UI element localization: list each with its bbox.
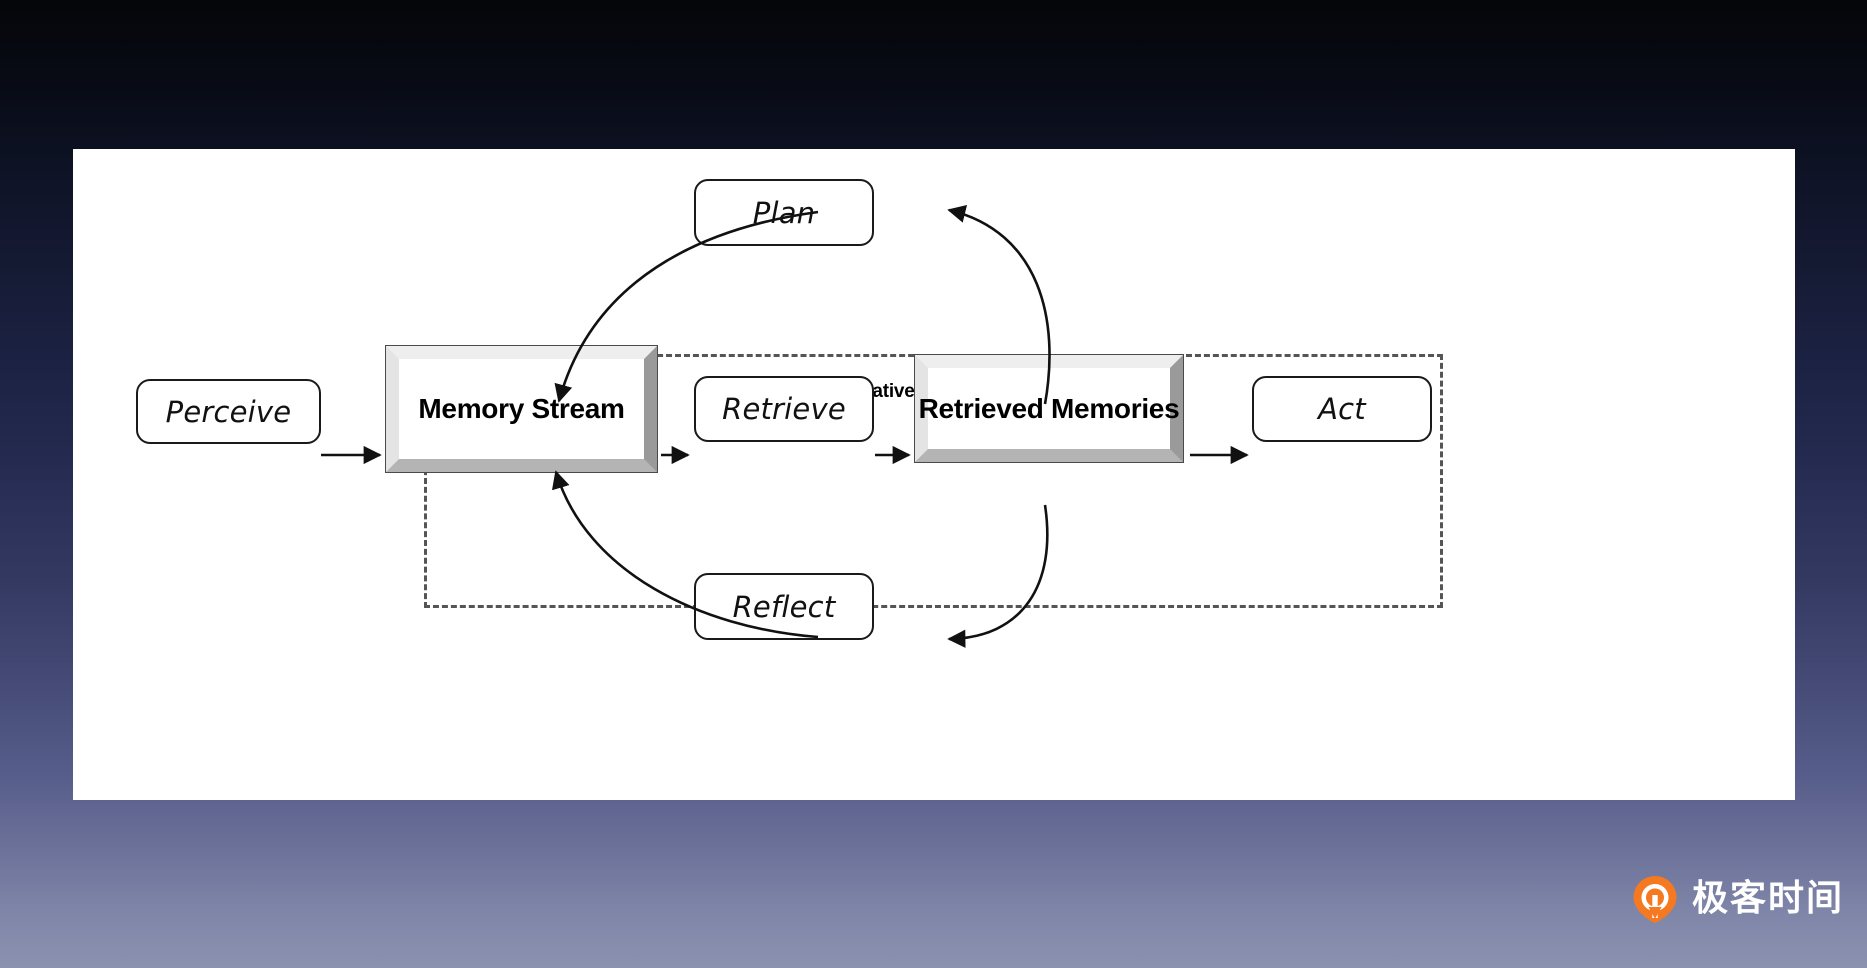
node-retrieve[interactable]: Retrieve	[694, 376, 874, 442]
node-perceive[interactable]: Perceive	[136, 379, 321, 444]
diagram-panel: Generative Agent Memory Perceive Memory …	[73, 149, 1795, 800]
node-act[interactable]: Act	[1252, 376, 1432, 442]
slide-canvas: Generative Agent Memory Perceive Memory …	[0, 0, 1867, 968]
watermark-text: 极客时间	[1692, 881, 1844, 917]
watermark: 极客时间	[1630, 874, 1844, 924]
node-memory-stream[interactable]: Memory Stream	[386, 346, 657, 472]
node-reflect[interactable]: Reflect	[694, 573, 874, 640]
geekbang-pin-logo	[1630, 874, 1680, 924]
node-reflect-label: Reflect	[733, 590, 836, 624]
node-act-label: Act	[1318, 392, 1366, 426]
node-retrieved-memories[interactable]: Retrieved Memories	[915, 355, 1183, 462]
node-plan[interactable]: Plan	[694, 179, 874, 246]
node-plan-label: Plan	[753, 196, 816, 230]
node-retrieved-memories-label: Retrieved Memories	[919, 393, 1180, 425]
node-retrieve-label: Retrieve	[722, 392, 846, 426]
node-memory-stream-label: Memory Stream	[418, 393, 624, 425]
node-perceive-label: Perceive	[166, 395, 292, 429]
